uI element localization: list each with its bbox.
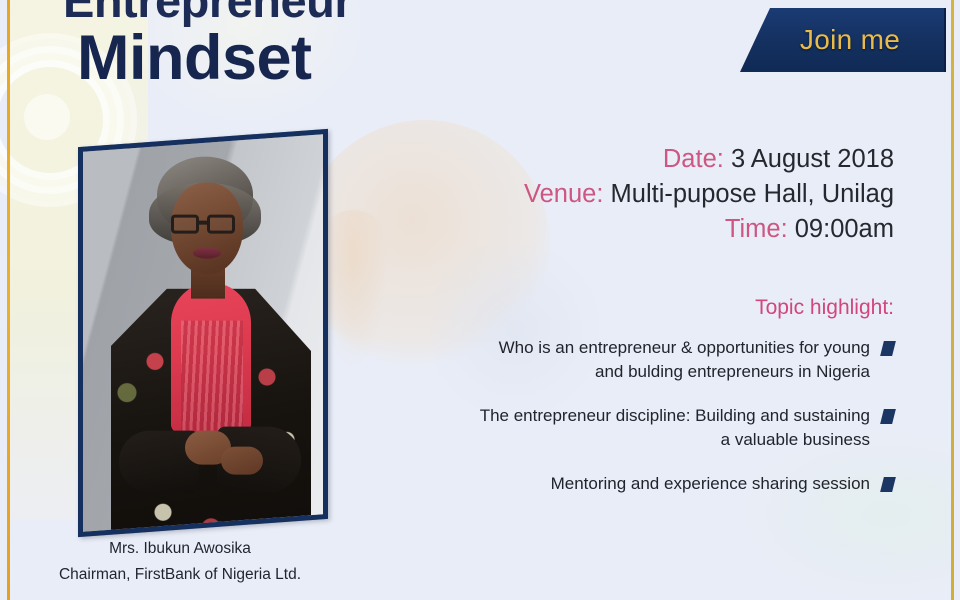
date-label: Date: [663,145,724,173]
event-detail-venue: Venue: Multi-pupose Hall, Unilag [524,177,894,212]
portrait-mouth [193,248,221,259]
list-item: Who is an entrepreneur & opportunities f… [474,336,894,384]
portrait-glasses-bridge [198,221,208,225]
event-poster: Entrepreneur Mindset Join me [0,0,960,600]
title-line-mindset: Mindset [77,28,352,88]
join-me-label: Join me [784,24,900,56]
list-item: The entrepreneur discipline: Building an… [474,404,894,452]
speaker-photo-frame [78,129,328,537]
venue-value: Multi-pupose Hall, Unilag [611,180,894,208]
speaker-portrait-image [78,131,328,538]
topic-text: The entrepreneur discipline: Building an… [480,406,870,449]
topic-highlight-heading: Topic highlight: [755,296,894,320]
speaker-photo [78,138,328,528]
topic-list: Who is an entrepreneur & opportunities f… [474,336,894,516]
time-label: Time: [725,215,788,243]
portrait-glasses-left [171,215,199,234]
speaker-name: Mrs. Ibukun Awosika [20,536,340,562]
page-title: Entrepreneur Mindset [63,0,352,88]
speaker-caption: Mrs. Ibukun Awosika Chairman, FirstBank … [20,536,340,588]
bullet-marker-icon [880,409,896,424]
right-gold-border [951,0,954,600]
venue-label: Venue: [524,180,603,208]
bullet-marker-icon [880,341,896,356]
topic-text: Who is an entrepreneur & opportunities f… [499,338,870,381]
time-value: 09:00am [795,215,894,243]
event-detail-date: Date: 3 August 2018 [524,142,894,177]
left-gold-border [7,0,10,600]
event-detail-time: Time: 09:00am [524,212,894,247]
list-item: Mentoring and experience sharing session [474,472,894,496]
event-details: Date: 3 August 2018 Venue: Multi-pupose … [524,142,894,247]
portrait-hand-second [221,447,263,475]
portrait-glasses-right [207,215,235,234]
date-value: 3 August 2018 [731,145,894,173]
background-keyhole-shape [318,210,388,370]
concentric-circles-core [24,94,70,140]
join-me-button[interactable]: Join me [740,8,946,72]
topic-text: Mentoring and experience sharing session [551,474,870,493]
portrait-top-texture [181,321,243,431]
speaker-role: Chairman, FirstBank of Nigeria Ltd. [20,562,340,588]
bullet-marker-icon [880,477,896,492]
